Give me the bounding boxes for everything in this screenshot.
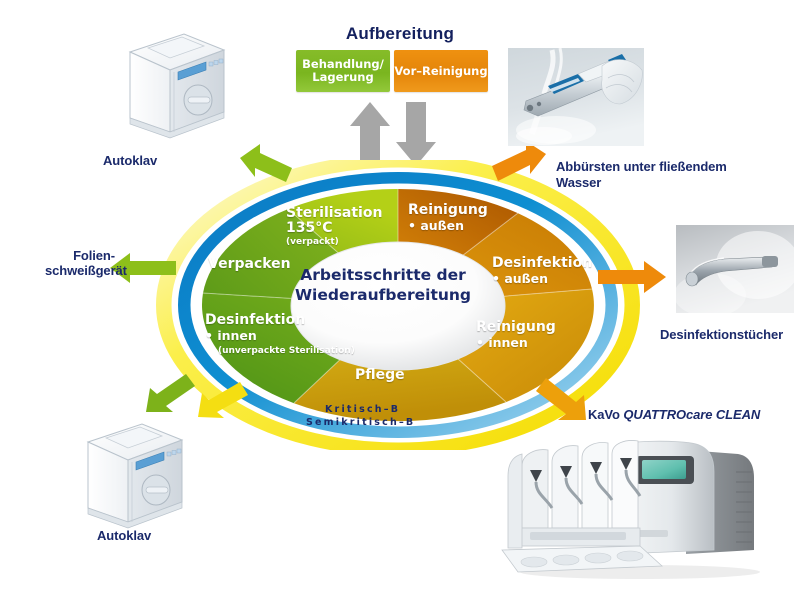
segment-note: (unverpackte Sterilisation) [218, 344, 355, 359]
caption-abbuersten: Abbürsten unter fließendem Wasser [556, 159, 786, 191]
arrow-green-up-left [236, 142, 298, 188]
arrow-down-gray [396, 102, 436, 166]
arrow-orange-right [596, 258, 668, 296]
box-behandlung-line2: Lagerung [312, 70, 373, 84]
brand-care: care [686, 407, 716, 422]
segment-bullet: 135°C [286, 220, 333, 236]
segment-title: Sterilisation [286, 205, 382, 221]
caption-line2: schweißgerät [45, 263, 127, 278]
segment-bullet: • außen [408, 218, 464, 233]
ring-label-kritisch-b: Kritisch–B [325, 404, 400, 415]
caption-desinfektionstuecher: Desinfektionstücher [660, 327, 783, 342]
segment-label-sterilisation: Sterilisation 135°C (verpackt) [286, 206, 396, 250]
spray-chambers [522, 441, 638, 528]
segment-label-desinfektion-innen: Desinfektion • innen (unverpackte Steril… [205, 313, 355, 359]
arrow-up-gray [350, 102, 390, 166]
segment-title: Verpacken [208, 256, 291, 272]
brand-quattro: QUATTRO [623, 407, 686, 422]
autoclave-illustration-top [112, 28, 228, 140]
ring-label-semikritisch-b: Semikritisch–B [306, 417, 415, 428]
arrow-orange-down-right [528, 376, 590, 426]
segment-label-pflege: Pflege [355, 368, 405, 383]
wheel-center-text: Arbeitsschritte der Wiederaufbereitung [288, 265, 478, 305]
segment-title: Pflege [355, 367, 405, 383]
brand-clean: CLEAN [716, 407, 760, 422]
segment-bullet: • außen [492, 271, 548, 286]
box-vorreinigung-label: Vor–Reinigung [394, 65, 487, 78]
segment-label-desinfektion-aussen: Desinfektion • außen [492, 256, 592, 287]
caption-folienschweissgeraet: Folien- schweißgerät [45, 248, 115, 278]
brand-kavo: KaVo [588, 407, 623, 422]
segment-title: Desinfektion [205, 312, 305, 328]
arrow-yellow-down-left [196, 381, 250, 423]
segment-label-reinigung-aussen: Reinigung • außen [408, 203, 488, 234]
segment-note: (verpackt) [286, 235, 396, 250]
caption-line2: Wasser [556, 175, 601, 190]
caption-autoklav-bottom: Autoklav [97, 528, 151, 543]
box-behandlung-lagerung: Behandlung/ Lagerung [296, 50, 390, 92]
segment-bullet: • innen [476, 335, 528, 350]
center-line-1: Arbeitsschritte der [300, 266, 466, 284]
segment-bullet: • innen [205, 328, 257, 343]
segment-label-verpacken: Verpacken [208, 257, 291, 272]
autoclave-illustration-bottom [70, 418, 186, 530]
box-behandlung-line1: Behandlung/ [302, 57, 384, 71]
caption-line1: Abbürsten unter fließendem [556, 159, 727, 174]
segment-label-reinigung-innen: Reinigung • innen [476, 320, 556, 351]
photo-desinfektionstuecher [676, 225, 794, 313]
box-vor-reinigung: Vor–Reinigung [394, 50, 488, 92]
segment-title: Reinigung [476, 319, 556, 335]
photo-brushing-under-water [508, 48, 644, 146]
segment-title: Reinigung [408, 202, 488, 218]
center-line-2: Wiederaufbereitung [295, 286, 471, 304]
segment-title: Desinfektion [492, 255, 592, 271]
arrow-orange-up-right [488, 140, 550, 188]
caption-quattrocare-clean: KaVo QUATTROcare CLEAN [588, 407, 760, 422]
quattrocare-clean-machine [500, 432, 768, 580]
display-screen [642, 460, 686, 479]
arrow-green-down-left [144, 372, 204, 418]
caption-line1: Folien- [73, 248, 115, 263]
caption-autoklav-top: Autoklav [103, 153, 157, 168]
